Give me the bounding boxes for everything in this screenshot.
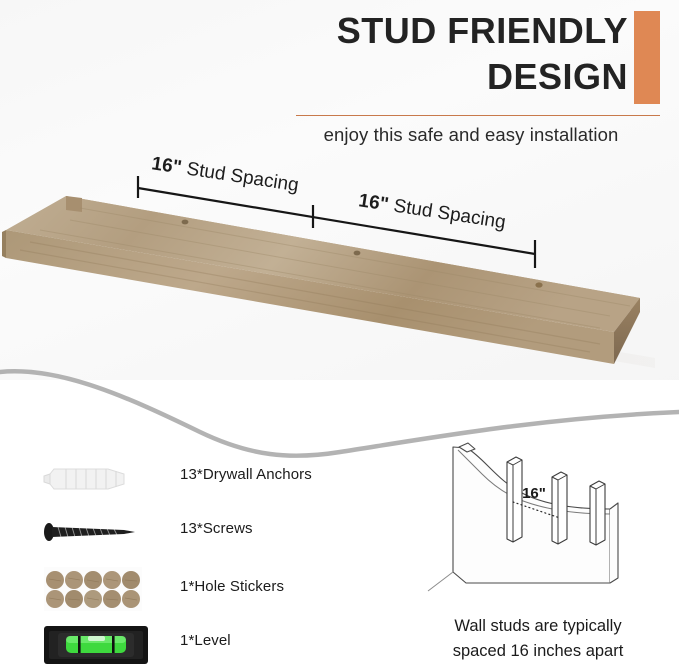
list-item-label: 13*Screws [180,520,253,537]
accent-bar [634,11,660,104]
list-item: 1*Level [36,620,366,667]
included-parts-list: 13*Drywall Anchors 13*Screws [36,452,366,667]
screw-icon [36,506,156,558]
list-item: 13*Screws [36,506,366,558]
list-item-label: 13*Drywall Anchors [180,466,312,483]
list-item: 13*Drywall Anchors [36,452,366,504]
drywall-anchor-icon [36,452,156,504]
wall-stud-diagram: 16" [412,432,662,602]
dimension-value-left: 16" [150,153,183,178]
stud-diagram-caption: Wall studs are typically spaced 16 inche… [412,614,664,664]
stud-spacing-measurement: 16" [522,485,546,502]
list-item: 1*Hole Stickers [36,560,366,618]
product-infographic: STUD FRIENDLY DESIGN enjoy this safe and… [0,0,679,667]
list-item-label: 1*Hole Stickers [180,578,284,595]
list-item-label: 1*Level [180,632,231,649]
level-icon [36,620,156,667]
page-subtitle: enjoy this safe and easy installation [280,124,662,146]
floating-shelf-product-image [0,186,679,386]
hole-stickers-icon [36,560,156,618]
page-title: STUD FRIENDLY DESIGN [300,8,628,100]
title-divider-rule [296,115,660,116]
